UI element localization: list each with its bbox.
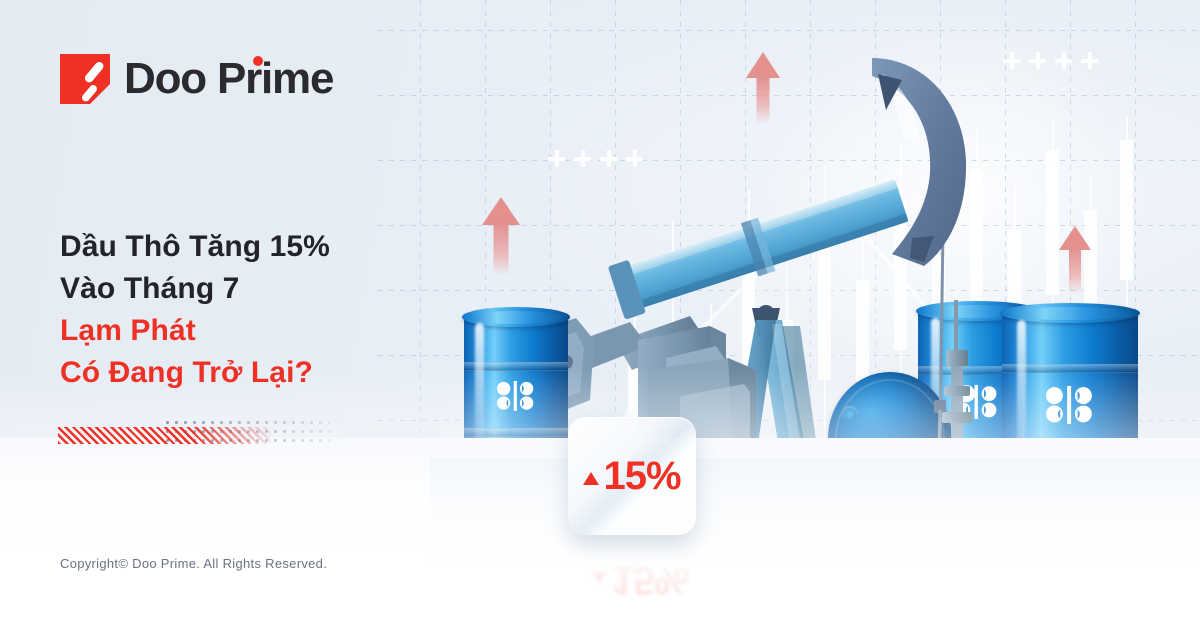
headline-line-2: Vào Tháng 7 <box>60 268 330 310</box>
doo-prime-logo-mark <box>60 54 110 104</box>
percent-value-reflection: 15% <box>611 560 688 600</box>
plus-icon <box>1081 52 1098 69</box>
wordmark-dot <box>253 56 263 66</box>
up-arrow-left <box>478 197 524 275</box>
headline-line-3: Lạm Phát <box>60 310 330 352</box>
headline-line-1: Dầu Thô Tăng 15% <box>60 226 330 268</box>
promo-banner: F <box>0 0 1200 628</box>
percent-badge-reflection: 15% <box>576 548 704 612</box>
plus-icon <box>1003 52 1020 69</box>
up-arrow-right <box>1055 226 1095 294</box>
brand-wordmark: Doo Prime <box>124 57 333 101</box>
percent-badge-card: 15% <box>568 417 696 535</box>
accent-bar <box>58 424 340 446</box>
headline-line-4: Có Đang Trở Lại? <box>60 352 330 394</box>
plus-icon <box>1029 52 1046 69</box>
accent-hatch-stripe <box>58 427 274 444</box>
headline-block: Dầu Thô Tăng 15% Vào Tháng 7 Lạm Phát Có… <box>60 226 330 394</box>
brand-logo[interactable]: Doo Prime <box>60 54 333 104</box>
percent-value: 15% <box>603 456 680 496</box>
triangle-up-icon <box>583 472 599 485</box>
plus-icon <box>1055 52 1072 69</box>
plus-group-right <box>1003 52 1098 69</box>
copyright-text: Copyright© Doo Prime. All Rights Reserve… <box>60 556 327 571</box>
triangle-up-icon-reflection <box>591 572 607 585</box>
brand-wordmark-text: Doo Prime <box>124 54 333 103</box>
